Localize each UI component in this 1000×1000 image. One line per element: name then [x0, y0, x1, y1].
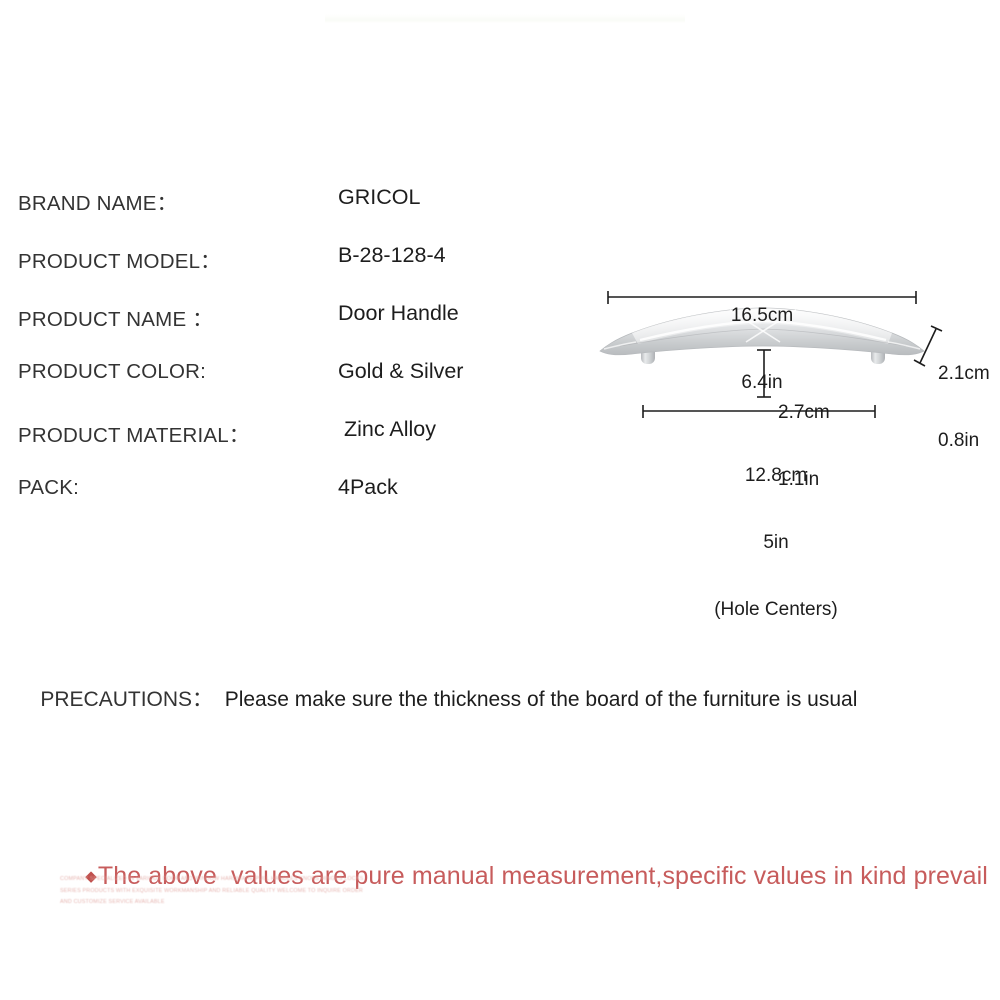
dimension-label-overall-length: 16.5cm 6.4in	[608, 260, 916, 439]
spec-label: PRODUCT MATERIAL：	[18, 418, 250, 448]
product-spec-sheet: BRAND NAME： GRICOL PRODUCT MODEL： B-28-1…	[0, 0, 1000, 1000]
hole-centers-note: (Hole Centers)	[645, 599, 907, 621]
fine-print-line: COMPANY SPECIALIZED IN VARIOUS DOOR AND …	[60, 874, 590, 886]
hole-centers-cm: 12.8cm	[645, 465, 907, 487]
projection-cm: 2.1cm	[938, 363, 990, 385]
spec-label: PRODUCT COLOR:	[18, 360, 206, 384]
specification-list: BRAND NAME： GRICOL PRODUCT MODEL： B-28-1…	[18, 186, 538, 534]
precautions-text: Please make sure the thickness of the bo…	[213, 688, 857, 711]
spec-value: 4Pack	[338, 475, 398, 500]
spec-row-brand-name: BRAND NAME： GRICOL	[18, 186, 538, 244]
spec-row-product-color: PRODUCT COLOR: Gold & Silver	[18, 360, 538, 418]
spec-value: GRICOL	[338, 185, 420, 210]
spec-label: PRODUCT MODEL：	[18, 244, 221, 274]
fine-print-line: SERIES PRODUCTS WITH EXQUISITE WORKMANSH…	[60, 886, 590, 898]
spec-value: Door Handle	[338, 301, 459, 326]
spec-label: BRAND NAME：	[18, 186, 177, 216]
spec-row-product-name: PRODUCT NAME ： Door Handle	[18, 302, 538, 360]
spec-row-product-material: PRODUCT MATERIAL： Zinc Alloy	[18, 418, 538, 476]
spec-label: PACK:	[18, 476, 79, 500]
top-edge-artifact	[325, 14, 685, 23]
spec-row-product-model: PRODUCT MODEL： B-28-128-4	[18, 244, 538, 302]
spec-label: PRODUCT NAME ：	[18, 302, 213, 332]
spec-row-pack: PACK: 4Pack	[18, 476, 538, 534]
spec-value: Gold & Silver	[338, 359, 463, 384]
projection-in: 0.8in	[938, 430, 990, 452]
precautions-line: PRECAUTIONS： Please make sure the thickn…	[17, 659, 857, 737]
dimension-label-projection: 2.1cm 0.8in	[938, 318, 990, 497]
hole-centers-in: 5in	[645, 532, 907, 554]
overall-length-cm: 16.5cm	[608, 305, 916, 327]
precautions-label: PRECAUTIONS：	[40, 688, 213, 711]
fine-print-block: COMPANY SPECIALIZED IN VARIOUS DOOR AND …	[60, 874, 590, 909]
spec-value: B-28-128-4	[338, 243, 446, 268]
fine-print-line: AND CUSTOMIZE SERVICE AVAILABLE	[60, 897, 590, 909]
overall-length-in: 6.4in	[608, 372, 916, 394]
dimension-label-hole-centers: 12.8cm 5in (Hole Centers)	[645, 420, 907, 666]
spec-value: Zinc Alloy	[338, 417, 436, 442]
